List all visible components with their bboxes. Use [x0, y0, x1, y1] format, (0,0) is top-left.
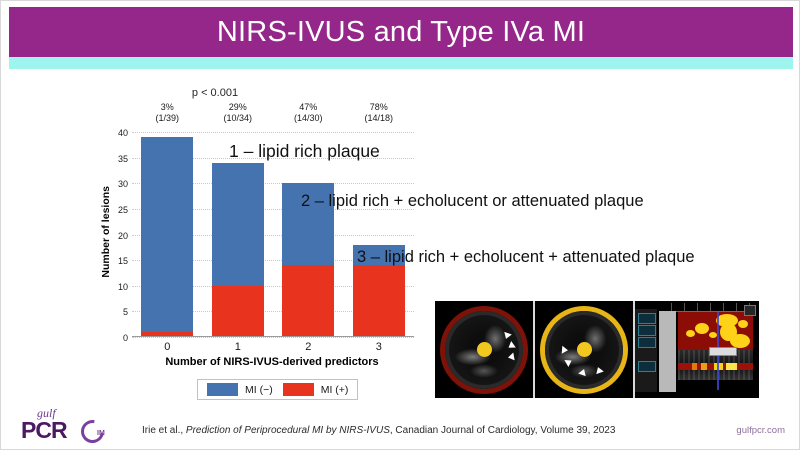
- x-axis-tick-labels: 0123: [132, 341, 414, 353]
- x-axis-title: Number of NIRS-IVUS-derived predictors: [102, 356, 442, 368]
- bar-slot: [203, 132, 274, 337]
- legend-item-mi-negative: MI (−): [207, 383, 273, 396]
- chemogram-ruler: [671, 303, 751, 312]
- y-axis-title: Number of lesions: [100, 186, 112, 278]
- slide-header-bar: NIRS-IVUS and Type IVa MI: [9, 7, 793, 57]
- data-label-fraction: (14/30): [273, 113, 344, 124]
- chemogram-view: [635, 301, 759, 398]
- block-segment: [692, 363, 697, 370]
- lipid-blob: [738, 320, 748, 328]
- chemogram-corner-icon: [744, 305, 756, 316]
- y-axis-tick-label: 15: [118, 256, 128, 266]
- data-label-0: 3% (1/39): [132, 102, 203, 124]
- ivus-cross-section-2: [535, 301, 633, 398]
- bar-segment-mi-positive: [353, 265, 405, 337]
- logo-pcr-text: PCR: [21, 417, 67, 444]
- data-label-percent: 78%: [344, 102, 415, 113]
- citation-rest: , Canadian Journal of Cardiology, Volume…: [390, 425, 616, 436]
- x-axis-line: [132, 336, 414, 337]
- bar-slot: [273, 132, 344, 337]
- data-label-fraction: (14/18): [344, 113, 415, 124]
- x-axis-tick-label: 2: [273, 341, 344, 353]
- citation-author: Irie et al.,: [142, 425, 186, 436]
- data-label-percent: 3%: [132, 102, 203, 113]
- arrowhead-icon: [507, 353, 514, 362]
- chart-legend: MI (−) MI (+): [197, 379, 358, 400]
- y-axis-tick-label: 5: [123, 307, 128, 317]
- slide: NIRS-IVUS and Type IVa MI p < 0.001 3% (…: [0, 0, 800, 450]
- data-label-fraction: (1/39): [132, 113, 203, 124]
- stacked-bar[interactable]: [212, 163, 264, 337]
- header-accent-strip: [9, 57, 793, 69]
- chemogram-readout-marker: [709, 347, 737, 356]
- bar-segment-mi-positive: [282, 265, 334, 337]
- data-label-3: 78% (14/18): [344, 102, 415, 124]
- y-axis-tick-label: 0: [123, 333, 128, 343]
- block-segment: [701, 363, 708, 370]
- gridline: 0: [132, 337, 414, 338]
- lipid-blob: [709, 332, 717, 338]
- gulf-pcr-logo: gulf PCR IM: [17, 406, 113, 444]
- legend-label-mi-negative: MI (−): [245, 384, 273, 396]
- data-label-1: 29% (10/34): [203, 102, 274, 124]
- logo-im-text: IM: [97, 430, 105, 437]
- data-label-fraction: (10/34): [203, 113, 274, 124]
- data-label-2: 47% (14/30): [273, 102, 344, 124]
- block-chemogram: [678, 363, 753, 370]
- bar-segment-mi-negative: [141, 137, 193, 332]
- lipid-blob: [730, 334, 750, 348]
- data-label-row: 3% (1/39) 29% (10/34) 47% (14/30) 78% (1…: [132, 102, 414, 124]
- callout-predictor-1: 1 – lipid rich plaque: [229, 141, 380, 162]
- page-title: NIRS-IVUS and Type IVa MI: [217, 16, 585, 49]
- data-label-percent: 47%: [273, 102, 344, 113]
- ivus-lumen-marker: [577, 342, 592, 357]
- x-axis-tick-label: 1: [203, 341, 274, 353]
- y-axis-tick-label: 40: [118, 128, 128, 138]
- lipid-blob: [686, 330, 695, 337]
- citation: Irie et al., Prediction of Periprocedura…: [142, 425, 615, 436]
- stacked-bar[interactable]: [141, 137, 193, 337]
- legend-label-mi-positive: MI (+): [321, 384, 349, 396]
- control-chip-icon: [638, 313, 656, 324]
- legend-item-mi-positive: MI (+): [283, 383, 349, 396]
- block-segment: [726, 363, 737, 370]
- chemogram-guide-bar: [659, 311, 676, 392]
- bar-segment-mi-positive: [212, 286, 264, 337]
- website-link[interactable]: gulfpcr.com: [736, 425, 785, 436]
- legend-swatch-blue: [207, 383, 238, 396]
- plot-area: 0510152025303540: [132, 132, 414, 337]
- callout-predictor-2: 2 – lipid rich + echolucent or attenuate…: [301, 192, 644, 211]
- p-value-label: p < 0.001: [105, 87, 325, 99]
- y-axis-tick-label: 35: [118, 154, 128, 164]
- chemogram-lipid-map: [678, 312, 753, 350]
- y-axis-tick-label: 25: [118, 205, 128, 215]
- ivus-lumen-marker: [477, 342, 492, 357]
- legend-swatch-red: [283, 383, 314, 396]
- x-axis-tick-label: 3: [344, 341, 415, 353]
- chemogram-side-controls: [635, 309, 657, 392]
- arrowhead-icon: [562, 346, 569, 354]
- control-chip-icon: [638, 325, 656, 336]
- data-label-percent: 29%: [203, 102, 274, 113]
- bar-segment-mi-negative: [212, 163, 264, 286]
- bar-slot: [344, 132, 415, 337]
- control-chip-icon: [638, 361, 656, 372]
- callout-predictor-3: 3 – lipid rich + echolucent + attenuated…: [357, 248, 695, 267]
- y-axis-tick-label: 10: [118, 282, 128, 292]
- lipid-blob: [695, 323, 709, 334]
- bar-slot: [132, 132, 203, 337]
- control-chip-icon: [638, 337, 656, 348]
- bar-series: [132, 132, 414, 337]
- nirs-ivus-imaging-panel: [435, 301, 759, 398]
- x-axis-tick-label: 0: [132, 341, 203, 353]
- citation-title: Prediction of Periprocedural MI by NIRS-…: [186, 425, 390, 436]
- y-axis-tick-label: 20: [118, 231, 128, 241]
- y-axis-tick-label: 30: [118, 179, 128, 189]
- ivus-cross-section-1: [435, 301, 533, 398]
